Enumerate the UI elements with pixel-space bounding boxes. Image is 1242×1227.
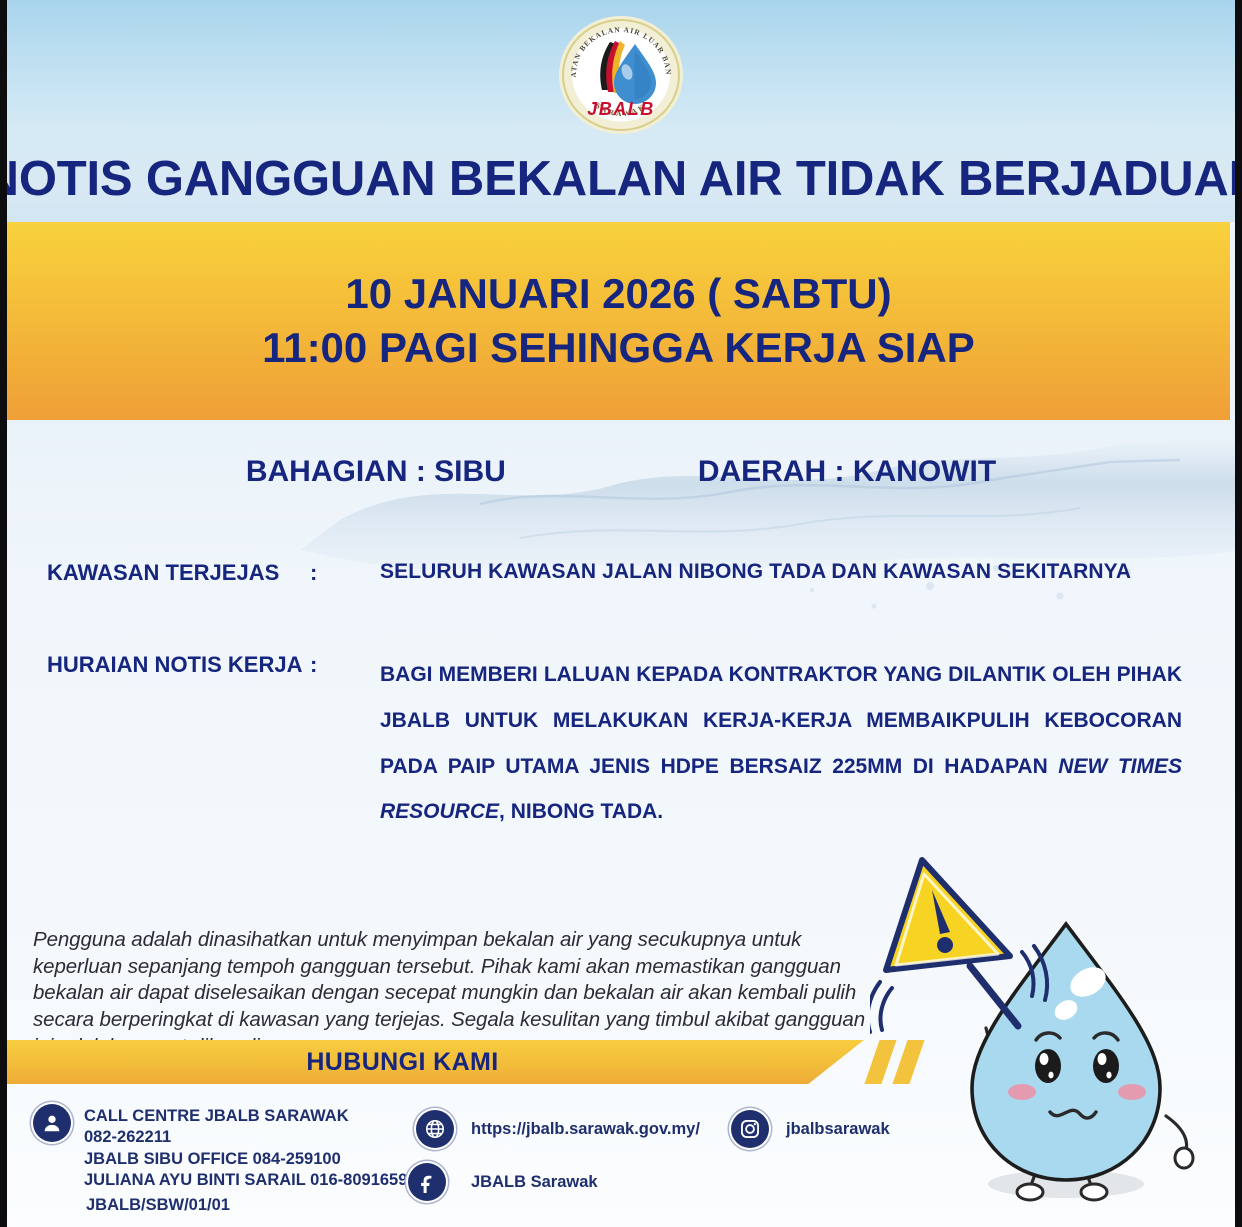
- notice-poster: JABATAN BEKALAN AIR LUAR BANDAR SARAWAK …: [0, 0, 1242, 1227]
- date-line-2: 11:00 PAGI SEHINGGA KERJA SIAP: [262, 321, 975, 375]
- affected-areas-value: SELURUH KAWASAN JALAN NIBONG TADA DAN KA…: [380, 560, 1242, 584]
- affected-areas-label: KAWASAN TERJEJAS: [0, 560, 310, 586]
- right-border-rail: [1235, 0, 1242, 1227]
- facebook-icon: [408, 1163, 446, 1201]
- svg-text:JBALB: JBALB: [587, 99, 655, 119]
- work-notice-row: HURAIAN NOTIS KERJA : BAGI MEMBERI LALUA…: [0, 652, 1242, 835]
- facebook-block[interactable]: JBALB Sarawak: [408, 1163, 598, 1201]
- facebook-page[interactable]: JBALB Sarawak: [471, 1173, 598, 1192]
- call-centre-phone: 082-262211: [84, 1127, 407, 1148]
- person-icon: [33, 1104, 71, 1142]
- date-banner: 10 JANUARI 2026 ( SABTU) 11:00 PAGI SEHI…: [7, 222, 1230, 420]
- left-border-rail: [0, 0, 7, 1227]
- work-notice-label: HURAIAN NOTIS KERJA: [0, 652, 310, 678]
- call-centre-lines: CALL CENTRE JBALB SARAWAK 082-262211 JBA…: [84, 1104, 407, 1192]
- jbalb-logo: JABATAN BEKALAN AIR LUAR BANDAR SARAWAK …: [557, 14, 685, 136]
- contact-banner-title: HUBUNGI KAMI: [306, 1048, 564, 1077]
- instagram-handle[interactable]: jbalbsarawak: [786, 1120, 890, 1139]
- work-notice-value: BAGI MEMBERI LALUAN KEPADA KONTRAKTOR YA…: [380, 652, 1242, 835]
- instagram-block[interactable]: jbalbsarawak: [731, 1110, 890, 1148]
- page-title: NOTIS GANGGUAN BEKALAN AIR TIDAK BERJADU…: [0, 151, 1242, 207]
- globe-icon: [416, 1110, 454, 1148]
- website-block[interactable]: https://jbalb.sarawak.gov.my/: [416, 1110, 700, 1148]
- affected-areas-colon: :: [310, 560, 380, 586]
- affected-areas-row: KAWASAN TERJEJAS : SELURUH KAWASAN JALAN…: [0, 560, 1242, 586]
- call-centre-title: CALL CENTRE JBALB SARAWAK: [84, 1106, 407, 1127]
- district-label: DAERAH : KANOWIT: [698, 455, 996, 489]
- instagram-icon: [731, 1110, 769, 1148]
- reference-code: JBALB/SBW/01/01: [86, 1196, 230, 1215]
- notice-title-band: NOTIS GANGGUAN BEKALAN AIR TIDAK BERJADU…: [0, 140, 1242, 218]
- date-line-1: 10 JANUARI 2026 ( SABTU): [345, 267, 891, 321]
- region-row: BAHAGIAN : SIBU DAERAH : KANOWIT: [0, 455, 1242, 489]
- water-drop-logo: JABATAN BEKALAN AIR LUAR BANDAR SARAWAK …: [557, 14, 685, 136]
- sibu-office-phone: JBALB SIBU OFFICE 084-259100: [84, 1149, 407, 1170]
- work-notice-text-after: , NIBONG TADA.: [499, 800, 663, 823]
- call-centre-block: CALL CENTRE JBALB SARAWAK 082-262211 JBA…: [33, 1104, 407, 1192]
- division-label: BAHAGIAN : SIBU: [246, 455, 506, 489]
- officer-contact: JULIANA AYU BINTI SARAIL 016-8091659: [84, 1170, 407, 1191]
- contact-banner: HUBUNGI KAMI: [7, 1040, 864, 1084]
- website-url[interactable]: https://jbalb.sarawak.gov.my/: [471, 1120, 700, 1139]
- work-notice-colon: :: [310, 652, 380, 678]
